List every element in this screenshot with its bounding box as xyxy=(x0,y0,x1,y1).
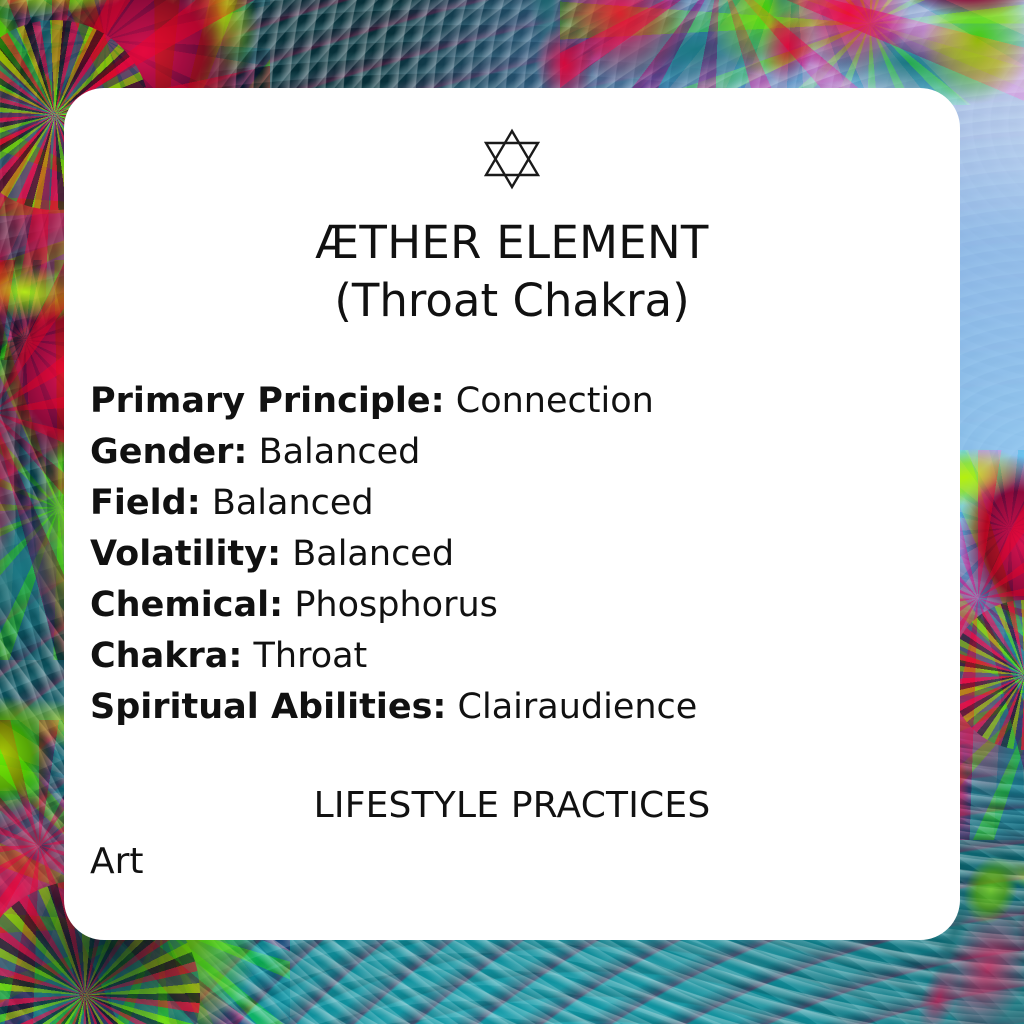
attribute-label: Field: xyxy=(90,483,201,523)
attribute-row: Primary Principle: Connection xyxy=(90,376,960,427)
title-block: ÆTHER ELEMENT (Throat Chakra) xyxy=(64,214,960,330)
attribute-value: Throat xyxy=(254,636,368,676)
lifestyle-practices-heading: LIFESTYLE PRACTICES xyxy=(64,783,960,829)
attribute-label: Chakra: xyxy=(90,636,242,676)
attribute-label: Spiritual Abilities: xyxy=(90,687,446,727)
hexagram-star-icon xyxy=(64,128,960,190)
attribute-value: Phosphorus xyxy=(294,585,498,625)
attribute-label: Primary Principle: xyxy=(90,381,445,421)
attribute-value: Balanced xyxy=(212,483,374,523)
list-item: Art xyxy=(90,838,960,886)
attribute-row: Gender: Balanced xyxy=(90,427,960,478)
attribute-value: Clairaudience xyxy=(458,687,698,727)
attribute-label: Chemical: xyxy=(90,585,283,625)
attribute-row: Chemical: Phosphorus xyxy=(90,580,960,631)
attribute-row: Spiritual Abilities: Clairaudience xyxy=(90,682,960,733)
content-card: ÆTHER ELEMENT (Throat Chakra) Primary Pr… xyxy=(64,88,960,940)
attribute-row: Volatility: Balanced xyxy=(90,529,960,580)
attribute-value: Connection xyxy=(456,381,654,421)
poster-canvas: ÆTHER ELEMENT (Throat Chakra) Primary Pr… xyxy=(0,0,1024,1024)
attribute-label: Gender: xyxy=(90,432,247,472)
attribute-label: Volatility: xyxy=(90,534,281,574)
attribute-row: Chakra: Throat xyxy=(90,631,960,682)
attribute-list: Primary Principle: Connection Gender: Ba… xyxy=(64,376,960,733)
lifestyle-practices-list: Art xyxy=(64,838,960,886)
attribute-row: Field: Balanced xyxy=(90,478,960,529)
page-title: ÆTHER ELEMENT xyxy=(64,214,960,272)
page-subtitle: (Throat Chakra) xyxy=(64,272,960,330)
attribute-value: Balanced xyxy=(292,534,454,574)
attribute-value: Balanced xyxy=(259,432,421,472)
